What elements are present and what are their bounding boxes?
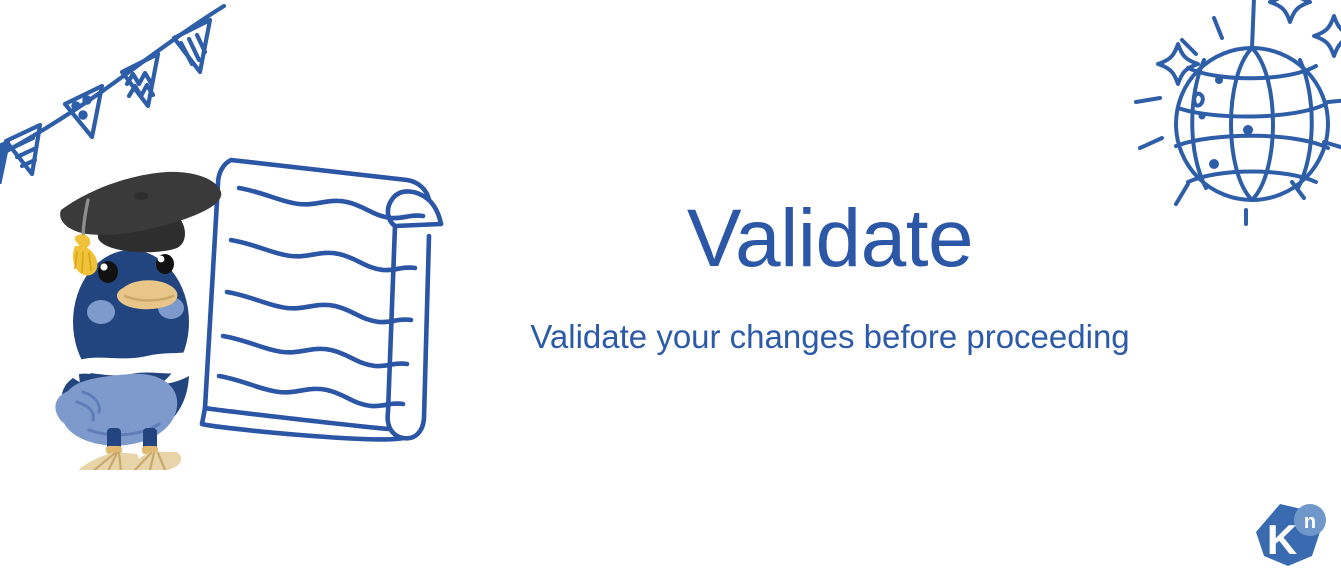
kn-brand-logo: K n bbox=[1248, 500, 1332, 572]
bird-mascot bbox=[55, 172, 221, 470]
text-block: Validate Validate your changes before pr… bbox=[470, 196, 1190, 356]
scroll-icon bbox=[202, 160, 441, 439]
logo-letter-k: K bbox=[1267, 516, 1297, 563]
logo-letter-n: n bbox=[1304, 511, 1316, 533]
page-title: Validate bbox=[470, 196, 1190, 282]
party-bunting-icon bbox=[0, 0, 232, 184]
slide-canvas: Validate Validate your changes before pr… bbox=[0, 0, 1341, 585]
bird-with-graduation-cap-scroll-illustration bbox=[55, 140, 465, 470]
page-subtitle: Validate your changes before proceeding bbox=[470, 282, 1190, 356]
graduation-cap-icon bbox=[60, 172, 221, 276]
